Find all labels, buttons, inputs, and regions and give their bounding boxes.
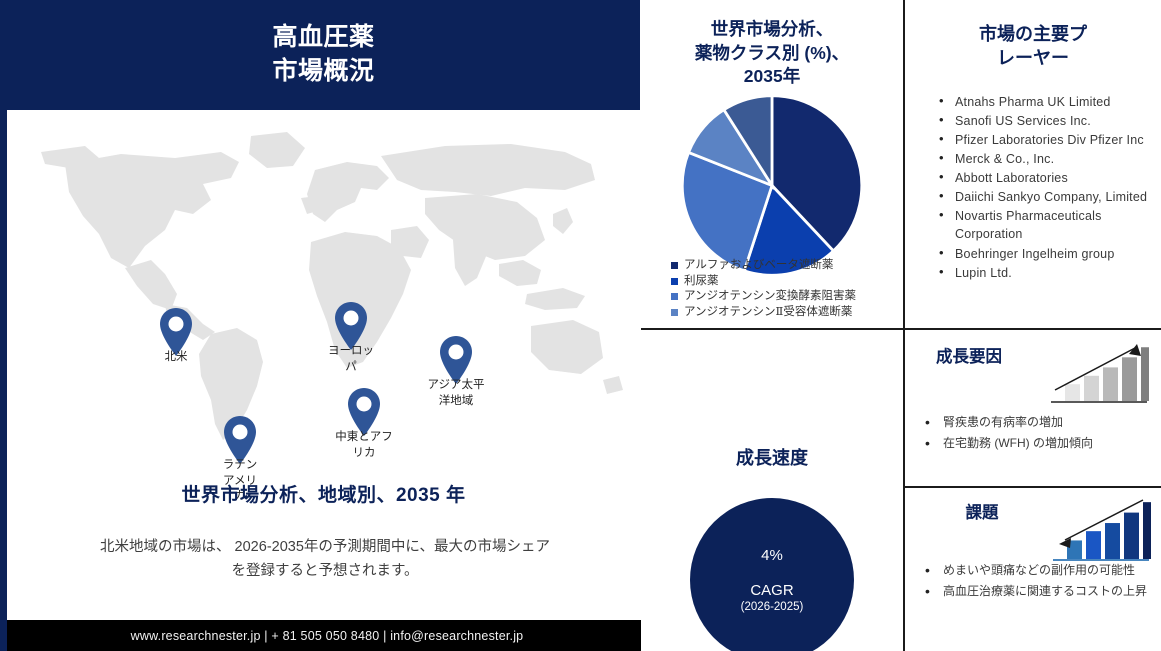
key-player-item: Sanofi US Services Inc. xyxy=(939,112,1161,130)
world-map-shapes xyxy=(25,118,625,448)
challenges-panel: 課題 めまいや頭痛などの副作用の可能性高血圧治療薬に関連するコストの上昇 xyxy=(905,488,1161,651)
legend-swatch-icon xyxy=(671,293,678,300)
map-label-asia-pacific: アジア太平 洋地域 xyxy=(416,378,496,409)
cagr-circle: 4% CAGR (2026-2025) xyxy=(690,498,854,651)
challenge-item: 高血圧治療薬に関連するコストの上昇 xyxy=(921,583,1153,600)
key-players-list: Atnahs Pharma UK LimitedSanofi US Servic… xyxy=(939,93,1161,282)
growth-drivers-list: 腎疾患の有病率の増加在宅勤務 (WFH) の増加傾向 xyxy=(921,414,1153,457)
pie-title-line3: 2035年 xyxy=(641,65,903,89)
growth-rate-title: 成長速度 xyxy=(641,330,903,470)
key-player-item: Novartis Pharmaceuticals Corporation xyxy=(939,207,1161,243)
growth-driver-item: 在宅勤務 (WFH) の増加傾向 xyxy=(921,435,1153,452)
pie-legend-item: 利尿薬 xyxy=(671,274,901,289)
growth-driver-item: 腎疾患の有病率の増加 xyxy=(921,414,1153,431)
footer-contact-bar: www.researchnester.jp | + 81 505 050 848… xyxy=(7,620,647,651)
players-title-line1: 市場の主要プ xyxy=(905,22,1161,46)
pie-legend-label: アンジオテンシンⅡ受容体遮断薬 xyxy=(684,305,852,320)
map-pin-middle-east-africa[interactable]: 中東とアフ リカ xyxy=(345,386,383,438)
page-title-line2: 市場概況 xyxy=(272,55,374,89)
players-title-line2: レーヤー xyxy=(905,46,1161,70)
legend-swatch-icon xyxy=(671,309,678,316)
region-analysis-heading: 世界市場分析、地域別、2035 年 xyxy=(7,480,640,507)
key-player-item: Abbott Laboratories xyxy=(939,169,1161,187)
pie-legend-label: 利尿薬 xyxy=(684,274,719,289)
chart-bar xyxy=(1122,357,1137,401)
cagr-label: CAGR xyxy=(750,582,793,599)
chart-bar xyxy=(1143,502,1151,559)
key-player-item: Merck & Co., Inc. xyxy=(939,150,1161,168)
challenges-bar-chart-down-icon xyxy=(1051,494,1151,568)
growth-drivers-panel: 成長要因 腎疾患の有病率の増加在宅勤務 (WFH) の増加傾向 xyxy=(905,330,1161,488)
left-panel: 高血圧薬 市場概況 xyxy=(0,0,640,651)
footer-text: www.researchnester.jp | + 81 505 050 848… xyxy=(131,629,524,643)
chart-bar xyxy=(1065,384,1080,401)
pie-chart-legend: アルファおよびベータ遮断薬利尿薬アンジオテンシン変換酵素阻害薬アンジオテンシンⅡ… xyxy=(671,258,901,321)
chart-bar xyxy=(1124,513,1139,559)
key-players-panel: 市場の主要プ レーヤー Atnahs Pharma UK LimitedSano… xyxy=(905,0,1161,330)
map-pin-asia-pacific[interactable]: アジア太平 洋地域 xyxy=(437,334,475,386)
growth-drivers-title: 成長要因 xyxy=(919,346,1019,368)
infographic-root: 高血圧薬 市場概況 xyxy=(0,0,1161,651)
pie-title-line1: 世界市場分析、 xyxy=(641,18,903,42)
chart-bar xyxy=(1105,523,1120,559)
key-player-item: Pfizer Laboratories Div Pfizer Inc xyxy=(939,131,1161,149)
page-title: 高血圧薬 市場概況 xyxy=(272,21,374,89)
chart-bar xyxy=(1141,347,1149,401)
map-label-europe: ヨーロッ パ xyxy=(311,344,391,375)
map-pin-north-america[interactable]: 北米 xyxy=(157,306,195,358)
chart-bar xyxy=(1086,531,1101,559)
pie-chart-panel: 世界市場分析、 薬物クラス別 (%)、 2035年 アルファおよびベータ遮断薬利… xyxy=(641,0,905,330)
growth-rate-panel: 成長速度 4% CAGR (2026-2025) xyxy=(641,330,905,651)
world-map: 北米 ヨーロッ パ アジア太平 洋地域 xyxy=(7,110,640,470)
pie-legend-item: アンジオテンシン変換酵素阻害薬 xyxy=(671,289,901,304)
map-pin-europe[interactable]: ヨーロッ パ xyxy=(332,300,370,352)
challenges-list: めまいや頭痛などの副作用の可能性高血圧治療薬に関連するコストの上昇 xyxy=(921,562,1153,605)
key-players-title: 市場の主要プ レーヤー xyxy=(905,0,1161,71)
cagr-percent: 4% xyxy=(761,547,783,564)
pie-legend-label: アンジオテンシン変換酵素阻害薬 xyxy=(684,289,856,304)
challenge-item: めまいや頭痛などの副作用の可能性 xyxy=(921,562,1153,579)
map-label-north-america: 北米 xyxy=(136,350,216,366)
legend-swatch-icon xyxy=(671,278,678,285)
map-pin-latin-america[interactable]: ラテン アメリ カ xyxy=(221,414,259,466)
chart-bar xyxy=(1103,367,1118,401)
page-title-bar: 高血圧薬 市場概況 xyxy=(7,0,640,110)
map-label-middle-east-africa: 中東とアフ リカ xyxy=(324,430,404,461)
region-analysis-description: 北米地域の市場は、 2026-2035年の予測期間中に、最大の市場シェアを登録す… xyxy=(95,536,555,584)
chart-bar xyxy=(1084,376,1099,401)
key-player-item: Atnahs Pharma UK Limited xyxy=(939,93,1161,111)
pie-legend-label: アルファおよびベータ遮断薬 xyxy=(684,258,833,273)
page-title-line1: 高血圧薬 xyxy=(272,21,374,55)
growth-bar-chart-up-icon xyxy=(1049,338,1149,410)
pie-title-line2: 薬物クラス別 (%)、 xyxy=(641,42,903,66)
pie-legend-item: アンジオテンシンⅡ受容体遮断薬 xyxy=(671,305,901,320)
cagr-years: (2026-2025) xyxy=(741,601,804,613)
legend-swatch-icon xyxy=(671,262,678,269)
challenges-title: 課題 xyxy=(927,502,1037,524)
pie-legend-item: アルファおよびベータ遮断薬 xyxy=(671,258,901,273)
pie-chart-graphic xyxy=(672,93,872,278)
key-player-item: Daiichi Sankyo Company, Limited xyxy=(939,188,1161,206)
key-player-item: Boehringer Ingelheim group xyxy=(939,245,1161,263)
pie-chart-title: 世界市場分析、 薬物クラス別 (%)、 2035年 xyxy=(641,0,903,89)
pie-slices xyxy=(672,93,872,278)
key-player-item: Lupin Ltd. xyxy=(939,264,1161,282)
